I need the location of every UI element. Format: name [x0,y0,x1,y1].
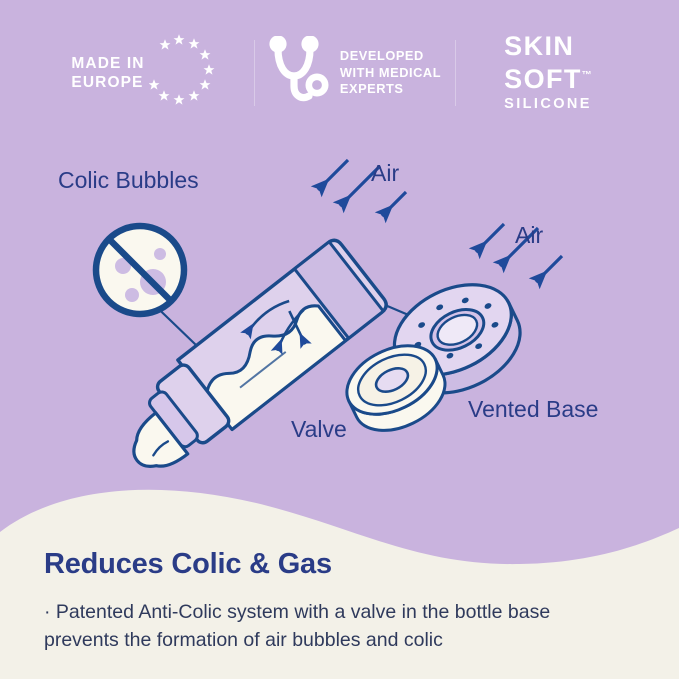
made-in-europe-line2: EUROPE [71,73,144,92]
air-arrow-top-3 [382,192,406,216]
eu-stars-icon [149,34,221,112]
air-arrow-right-1 [476,224,504,252]
skin-soft-line1: SKIN [504,32,592,61]
air-arrow-right-3 [536,256,562,282]
skin-soft-line2: SOFT [504,64,582,94]
label-valve: Valve [291,416,347,443]
badge-skin-soft-silicone: SKIN SOFT™ SILICONE [456,23,641,123]
bottom-content: Reduces Colic & Gas · Patented Anti-Coli… [44,548,644,654]
medical-line1: DEVELOPED [340,48,441,65]
label-vented-base: Vented Base [468,396,598,423]
made-in-europe-text: MADE IN EUROPE [71,54,144,92]
no-bubbles-icon [96,226,184,314]
label-colic-bubbles: Colic Bubbles [58,167,199,194]
label-air-top: Air [371,160,399,187]
label-air-right: Air [515,222,543,249]
trademark-symbol: ™ [582,70,592,81]
air-arrow-top-1 [318,160,348,190]
medical-line2: WITH MEDICAL [340,65,441,82]
skin-soft-text: SKIN SOFT™ SILICONE [504,32,592,114]
medical-text: DEVELOPED WITH MEDICAL EXPERTS [340,48,441,98]
medical-line3: EXPERTS [340,81,441,98]
skin-soft-line2-wrap: SOFT™ [504,61,592,94]
badge-developed-with-medical-experts: DEVELOPED WITH MEDICAL EXPERTS [255,23,455,123]
badge-made-in-europe: MADE IN EUROPE [39,23,254,123]
made-in-europe-line1: MADE IN [71,54,144,73]
infographic-page: MADE IN EUROPE [0,0,679,679]
badge-strip: MADE IN EUROPE [0,18,679,128]
bottom-panel: Reduces Colic & Gas · Patented Anti-Coli… [0,470,679,679]
body-text: · Patented Anti-Colic system with a valv… [44,598,604,654]
headline: Reduces Colic & Gas [44,548,644,581]
stethoscope-icon [268,36,330,110]
skin-soft-line3: SILICONE [504,94,592,114]
